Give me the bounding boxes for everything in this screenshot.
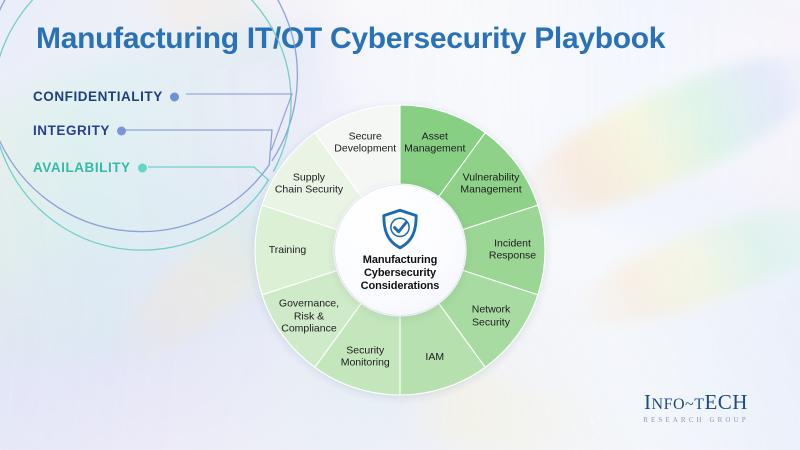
donut-hub: Manufacturing Cybersecurity Consideratio…: [335, 185, 465, 315]
pillar-label: AVAILABILITY: [33, 160, 131, 175]
brand-logo: INFO~TECH RESEARCH GROUP: [616, 392, 776, 424]
segment-label: Vulnerability Management: [460, 171, 521, 196]
segment-label: Governance, Risk & Compliance: [279, 298, 339, 335]
slide-canvas: Manufacturing IT/OT Cybersecurity Playbo…: [0, 0, 800, 450]
segment-label: IAM: [425, 351, 444, 363]
segment-label: Supply Chain Security: [275, 171, 343, 196]
pillar-availability: AVAILABILITY: [33, 160, 131, 175]
logo-wordmark: INFO~TECH: [616, 392, 776, 413]
pillar-label: CONFIDENTIALITY: [33, 89, 163, 104]
pillar-dot: [117, 126, 126, 135]
logo-tagline: RESEARCH GROUP: [616, 416, 776, 424]
segment-label: Training: [269, 244, 307, 256]
hub-text: Manufacturing Cybersecurity Consideratio…: [361, 254, 440, 294]
pillar-dot: [138, 163, 147, 172]
segment-label: Incident Response: [489, 238, 536, 263]
pillar-integrity: INTEGRITY: [33, 123, 110, 138]
segment-label: Network Security: [472, 304, 511, 329]
pillar-confidentiality: CONFIDENTIALITY: [33, 89, 163, 104]
segment-label: Secure Development: [334, 131, 396, 156]
pillar-label: INTEGRITY: [33, 123, 110, 138]
pillar-dot: [170, 92, 179, 101]
shield-check-icon: [379, 207, 421, 251]
segment-label: Security Monitoring: [341, 345, 390, 370]
segment-label: Asset Management: [404, 131, 465, 156]
